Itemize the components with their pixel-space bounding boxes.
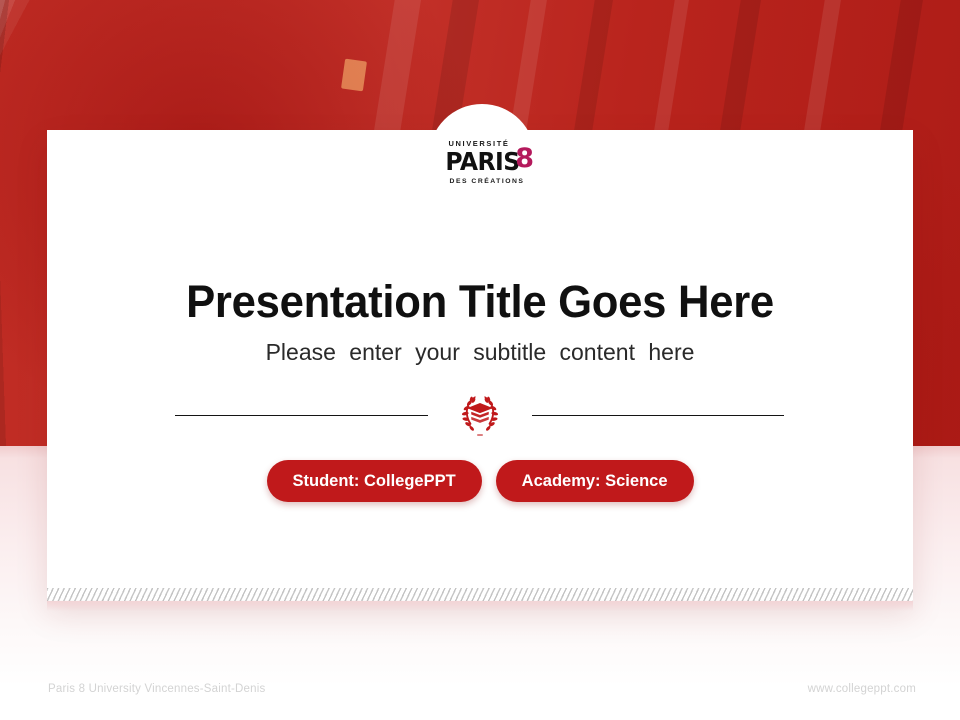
- banner-highlight-tag: [341, 59, 367, 92]
- divider-rule-right: [532, 415, 784, 416]
- footer-left-text: Paris 8 University Vincennes-Saint-Denis: [48, 683, 265, 695]
- page-title: Presentation Title Goes Here: [60, 276, 900, 328]
- graduation-laurel-emblem-icon: [457, 390, 503, 440]
- logo-word-paris: PARIS: [445, 149, 519, 174]
- university-logo: UNIVERSITÉ PARIS 8 DES CRÉATIONS: [425, 140, 539, 188]
- footer-right-text[interactable]: www.collegeppt.com: [808, 683, 916, 695]
- hatched-band-shadow: [47, 601, 913, 611]
- divider: [47, 390, 913, 442]
- page-subtitle: Please enter your subtitle content here: [47, 339, 913, 366]
- meta-pill-group: Student: CollegePPT Academy: Science: [47, 459, 913, 503]
- academy-pill-button[interactable]: Academy: Science: [496, 460, 694, 502]
- logo-bottom-text: DES CRÉATIONS: [435, 179, 539, 186]
- logo-number-eight: 8: [515, 145, 533, 172]
- student-pill-button[interactable]: Student: CollegePPT: [267, 460, 482, 502]
- logo-wordmark: PARIS 8: [425, 149, 539, 176]
- presentation-slide: UNIVERSITÉ PARIS 8 DES CRÉATIONS Present…: [0, 0, 960, 720]
- divider-rule-left: [175, 415, 428, 416]
- hatched-stripe-band: [47, 588, 913, 601]
